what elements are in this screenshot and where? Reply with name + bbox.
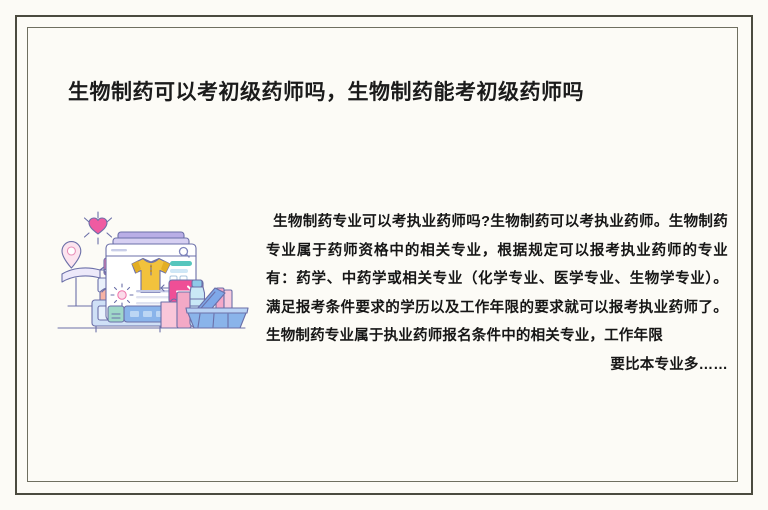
- article-body: 生物制药专业可以考执业药师吗?生物制药可以考执业药师。生物制药专业属于药师资格中…: [266, 208, 728, 408]
- heart-sparkle-icon: [85, 212, 112, 244]
- page-root: 生物制药可以考初级药师吗，生物制药能考初级药师吗 .ol { fill:none…: [0, 0, 768, 510]
- tag-chip-teal: [170, 261, 192, 266]
- bloom-icon: [111, 284, 133, 306]
- page-title: 生物制药可以考初级药师吗，生物制药能考初级药师吗: [68, 78, 708, 108]
- article-ellipsis-tail: 要比本专业多……: [266, 351, 728, 380]
- online-shopping-illustration: .ol { fill:none; stroke:#6b6fa8; stroke-…: [40, 196, 262, 366]
- shopping-basket: [186, 308, 248, 328]
- tag-chip-light: [170, 269, 188, 273]
- location-pin-icon: [62, 242, 81, 268]
- browser-url-bar: [111, 249, 127, 251]
- article-paragraph: 生物制药专业可以考执业药师吗?生物制药可以考执业药师。生物制药专业属于药师资格中…: [266, 214, 728, 344]
